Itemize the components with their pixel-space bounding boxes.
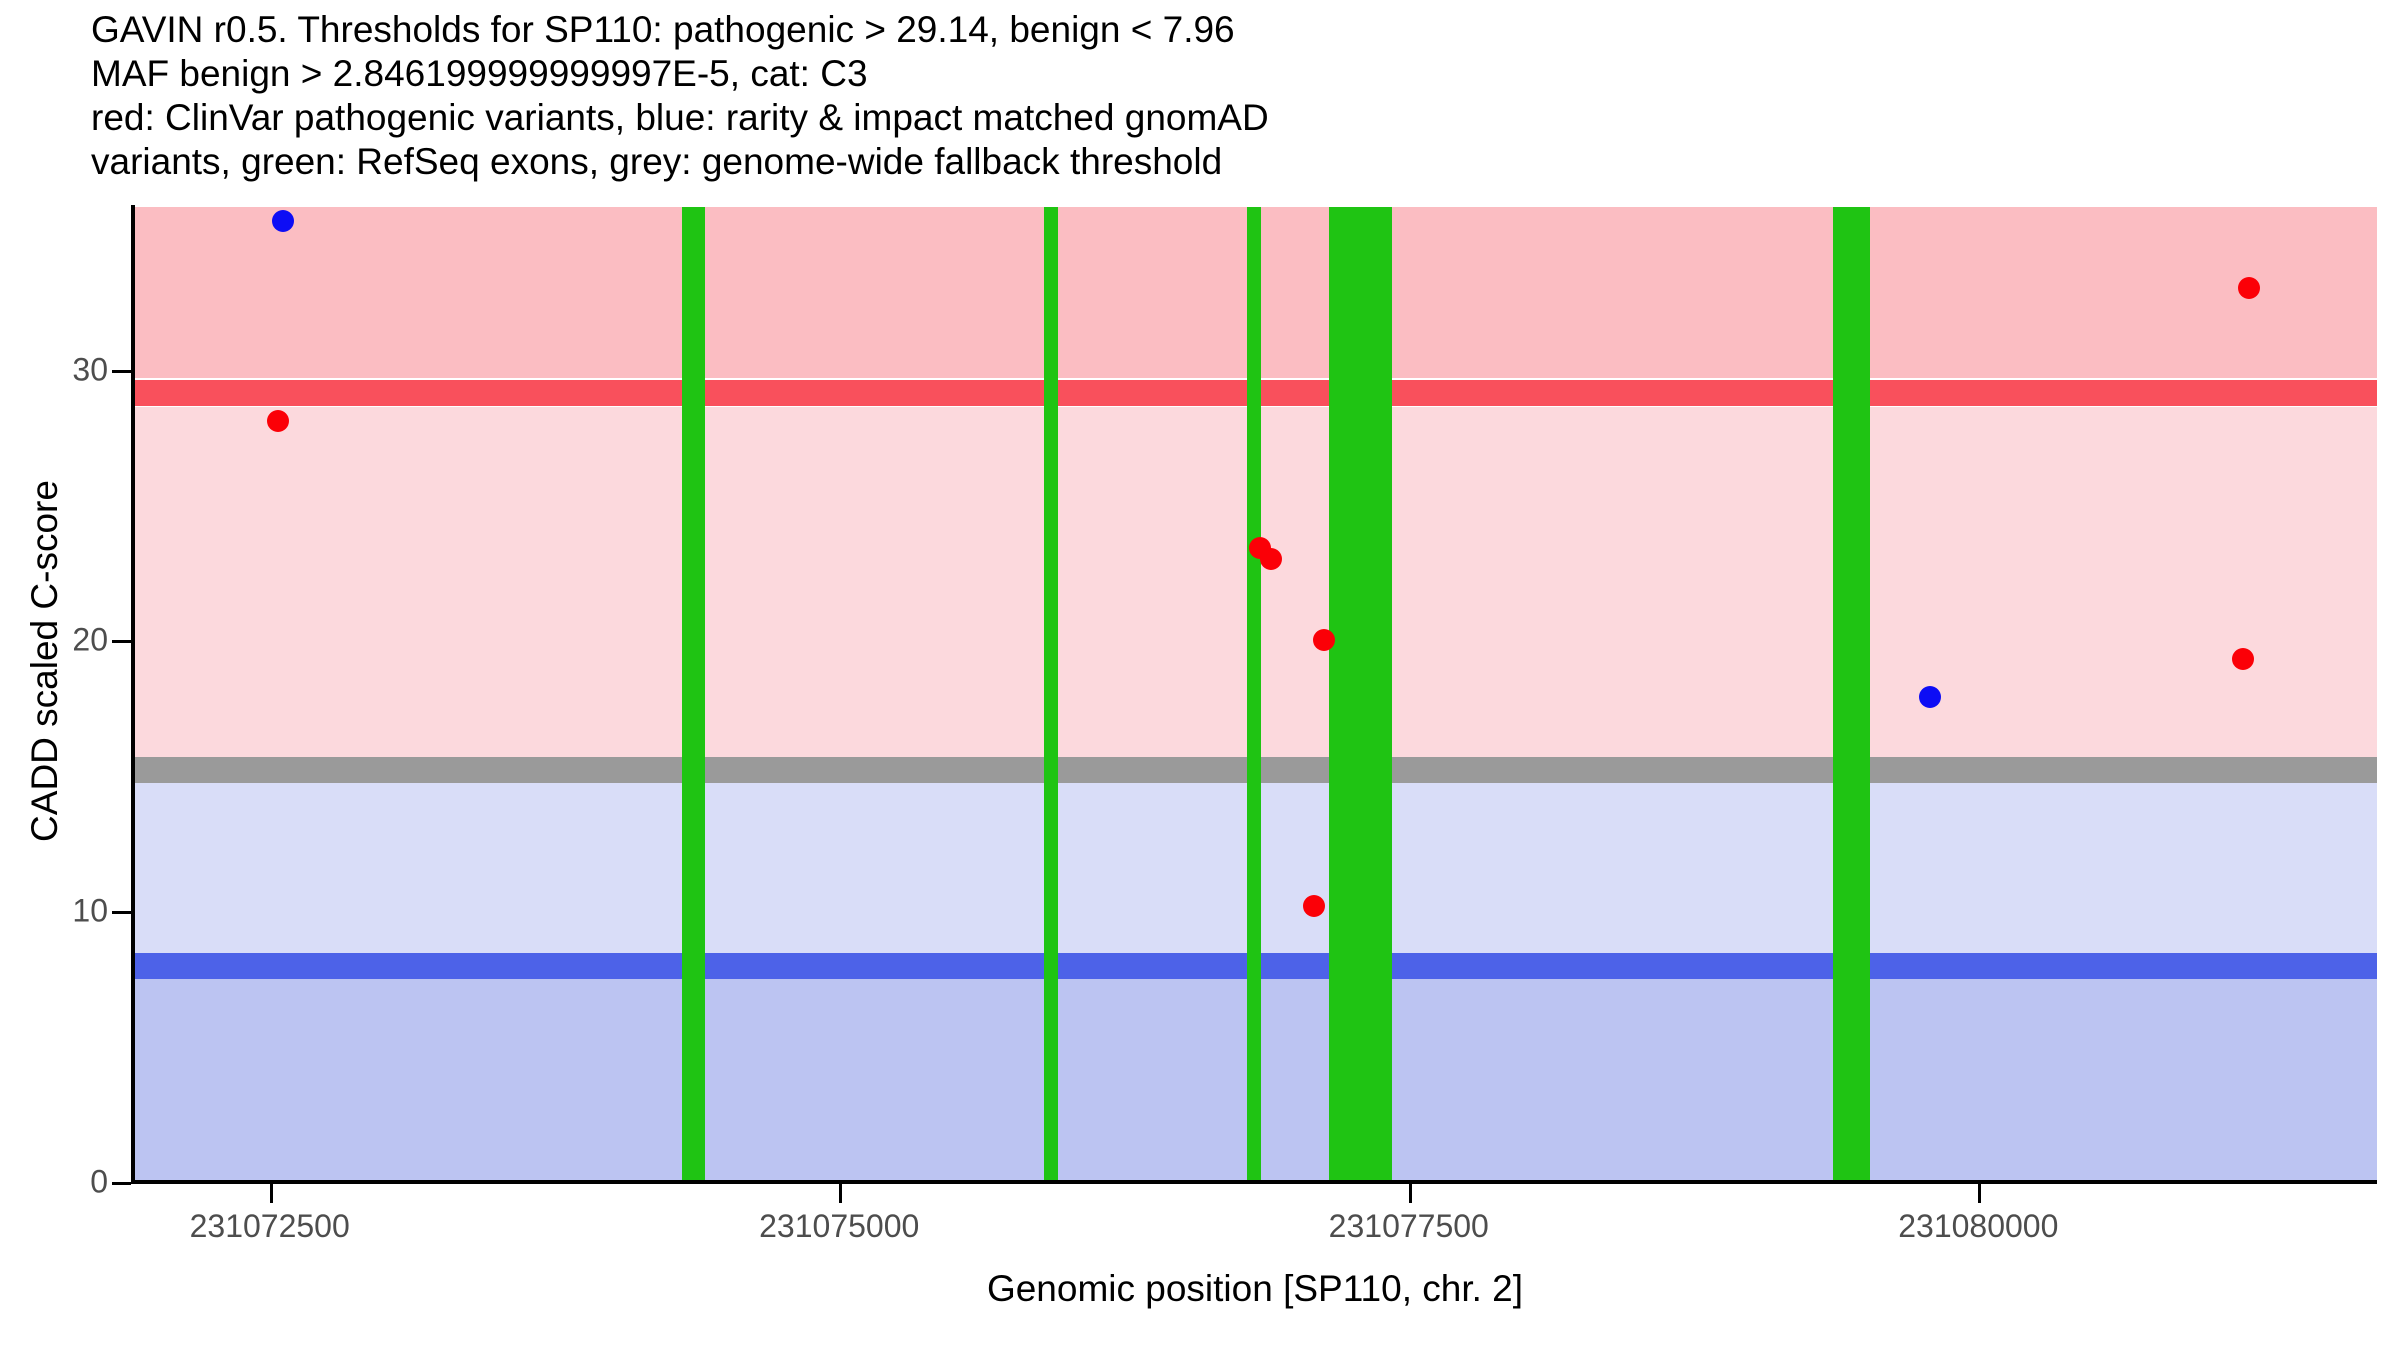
y-axis-line bbox=[131, 205, 135, 1184]
chart-page: GAVIN r0.5. Thresholds for SP110: pathog… bbox=[0, 0, 2400, 1350]
x-axis-tick-label: 231075000 bbox=[759, 1208, 919, 1245]
y-axis-tick bbox=[112, 640, 131, 643]
x-axis-tick-label: 231072500 bbox=[190, 1208, 350, 1245]
x-axis-tick bbox=[1409, 1184, 1412, 1203]
title-line-1: GAVIN r0.5. Thresholds for SP110: pathog… bbox=[91, 8, 2291, 52]
refseq-exon-bar bbox=[682, 207, 704, 1182]
y-axis-tick-label: 20 bbox=[72, 622, 108, 659]
x-axis-tick bbox=[270, 1184, 273, 1203]
refseq-exon-bar bbox=[1044, 207, 1058, 1182]
y-axis-tick-label: 0 bbox=[90, 1164, 108, 1201]
y-axis-title: CADD scaled C-score bbox=[24, 361, 66, 961]
title-line-4: variants, green: RefSeq exons, grey: gen… bbox=[91, 140, 2291, 184]
data-point-gnomad-matched[interactable] bbox=[272, 210, 294, 232]
data-point-clinvar-pathogenic[interactable] bbox=[1260, 548, 1282, 570]
title-line-2: MAF benign > 2.846199999999997E-5, cat: … bbox=[91, 52, 2291, 96]
data-point-clinvar-pathogenic[interactable] bbox=[1303, 895, 1325, 917]
x-axis-line bbox=[131, 1180, 2377, 1184]
x-axis-title: Genomic position [SP110, chr. 2] bbox=[133, 1268, 2377, 1310]
data-point-clinvar-pathogenic[interactable] bbox=[267, 410, 289, 432]
y-axis-tick bbox=[112, 911, 131, 914]
data-point-clinvar-pathogenic[interactable] bbox=[2232, 648, 2254, 670]
chart-title-block: GAVIN r0.5. Thresholds for SP110: pathog… bbox=[91, 8, 2291, 184]
y-axis-tick bbox=[112, 370, 131, 373]
x-axis-tick-label: 231080000 bbox=[1898, 1208, 2058, 1245]
x-axis-tick bbox=[1978, 1184, 1981, 1203]
y-axis-tick bbox=[112, 1182, 131, 1185]
refseq-exon-bar bbox=[1833, 207, 1871, 1182]
refseq-exon-bar bbox=[1247, 207, 1261, 1182]
x-axis-tick bbox=[839, 1184, 842, 1203]
plot-panel bbox=[133, 207, 2377, 1182]
x-axis-tick-label: 231077500 bbox=[1329, 1208, 1489, 1245]
y-axis-tick-label: 10 bbox=[72, 893, 108, 930]
title-line-3: red: ClinVar pathogenic variants, blue: … bbox=[91, 96, 2291, 140]
y-axis-tick-label: 30 bbox=[72, 351, 108, 388]
refseq-exon-bar bbox=[1329, 207, 1392, 1182]
